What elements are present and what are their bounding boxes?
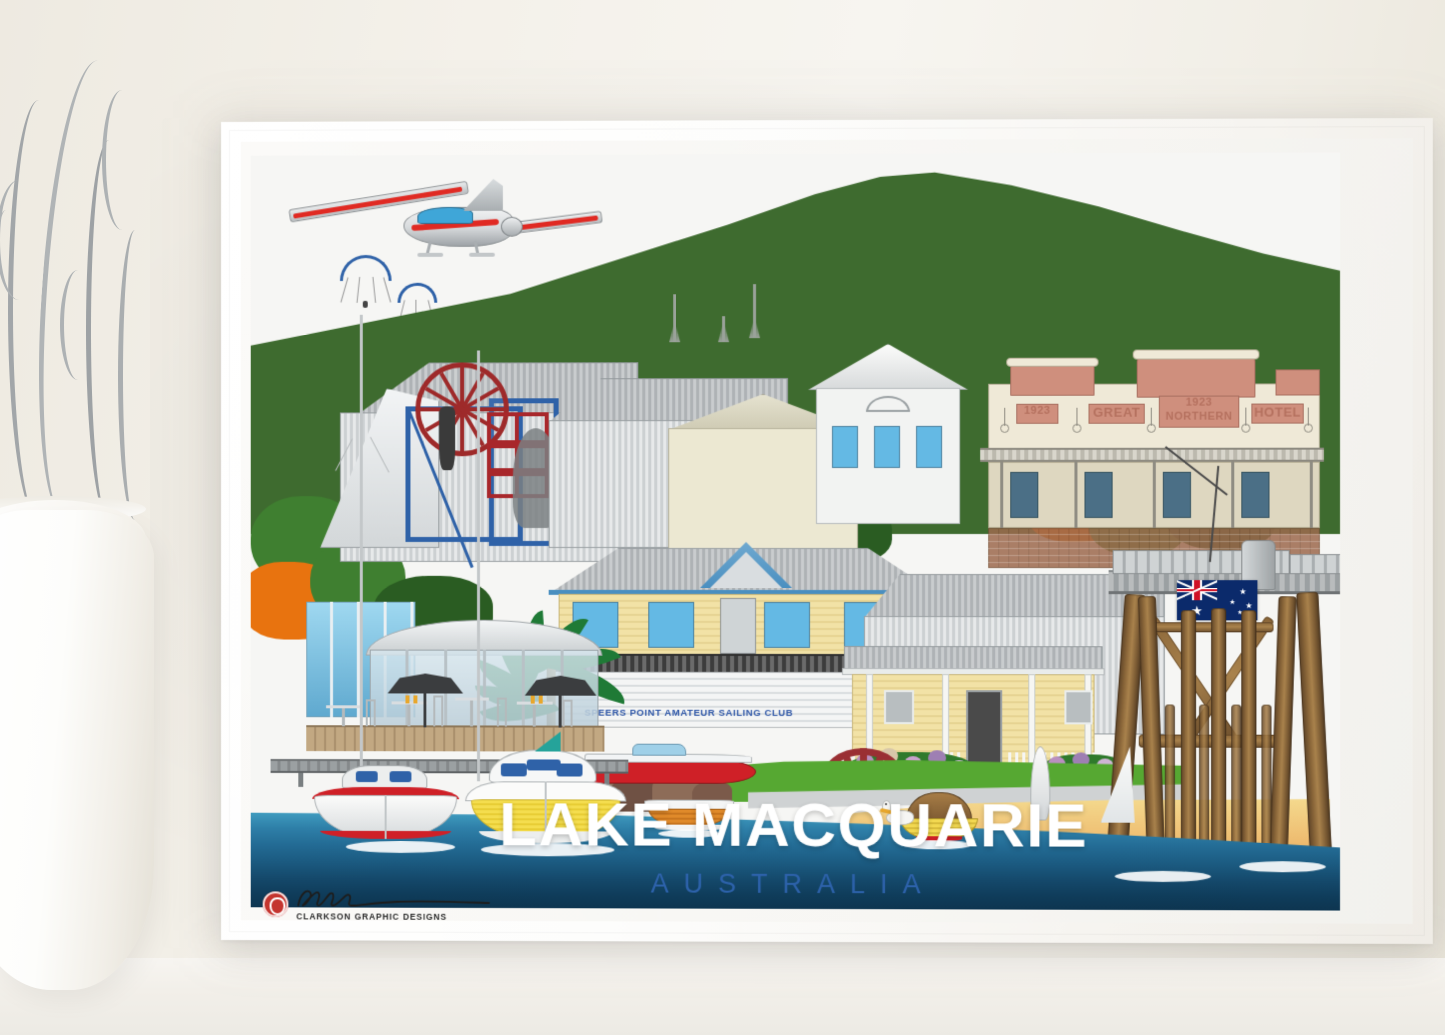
hotel-sign-northern: NORTHERN <box>1159 412 1239 423</box>
southern-cross-star: ★ <box>1229 599 1235 606</box>
window <box>648 602 694 648</box>
cafe-stool <box>563 700 573 727</box>
signature-icon <box>294 885 493 911</box>
yacht-mast <box>477 350 480 781</box>
hotel-sign-year: 1923 <box>1016 406 1058 417</box>
hotel-sign-hotel: HOTEL <box>1251 406 1303 419</box>
window <box>390 771 412 782</box>
hotel-sign-great: GREAT <box>1089 406 1145 419</box>
transmission-tower <box>673 294 676 342</box>
window <box>1010 472 1038 518</box>
hotel-sign-year-plaque: 1923 <box>1159 398 1239 409</box>
window <box>832 426 858 468</box>
transmission-tower <box>722 316 725 342</box>
sailing-club-sign: SPEERS POINT AMATEUR SAILING CLUB <box>585 708 794 719</box>
yacht-mast <box>360 315 363 781</box>
branch-twig <box>102 90 142 230</box>
white-gabled-hall <box>808 344 968 524</box>
branch-stem <box>118 230 152 520</box>
vase-body <box>0 510 154 990</box>
studio-logo-icon <box>263 891 289 917</box>
window <box>1064 690 1092 724</box>
decorative-vase-group <box>0 30 205 990</box>
page-title: LAKE MACQUARIE <box>251 794 1340 859</box>
light-aircraft <box>288 173 596 273</box>
floor-surface <box>0 958 1445 1035</box>
southern-cross-star: ★ <box>1245 602 1252 610</box>
room-scene: 1923 GREAT 1923 NORTHERN HOTEL <box>0 0 1445 1035</box>
picture-frame: 1923 GREAT 1923 NORTHERN HOTEL <box>221 118 1433 944</box>
union-jack <box>1177 580 1217 600</box>
window <box>764 602 810 648</box>
southern-cross-star: ★ <box>1239 588 1246 596</box>
window <box>501 763 527 776</box>
branch-twig <box>60 270 96 380</box>
window <box>874 426 900 468</box>
transmission-tower <box>753 284 756 338</box>
poster-artwork: 1923 GREAT 1923 NORTHERN HOTEL <box>251 152 1340 910</box>
window <box>916 426 942 468</box>
artist-credit: CLARKSON GRAPHIC DESIGNS <box>263 883 511 934</box>
cafe-stool <box>433 695 443 726</box>
cafe-stool <box>366 699 376 726</box>
window <box>527 759 561 770</box>
mat-board: 1923 GREAT 1923 NORTHERN HOTEL <box>241 138 1413 924</box>
window <box>356 771 378 782</box>
studio-name: CLARKSON GRAPHIC DESIGNS <box>296 911 447 921</box>
cafe-stool <box>497 698 507 727</box>
